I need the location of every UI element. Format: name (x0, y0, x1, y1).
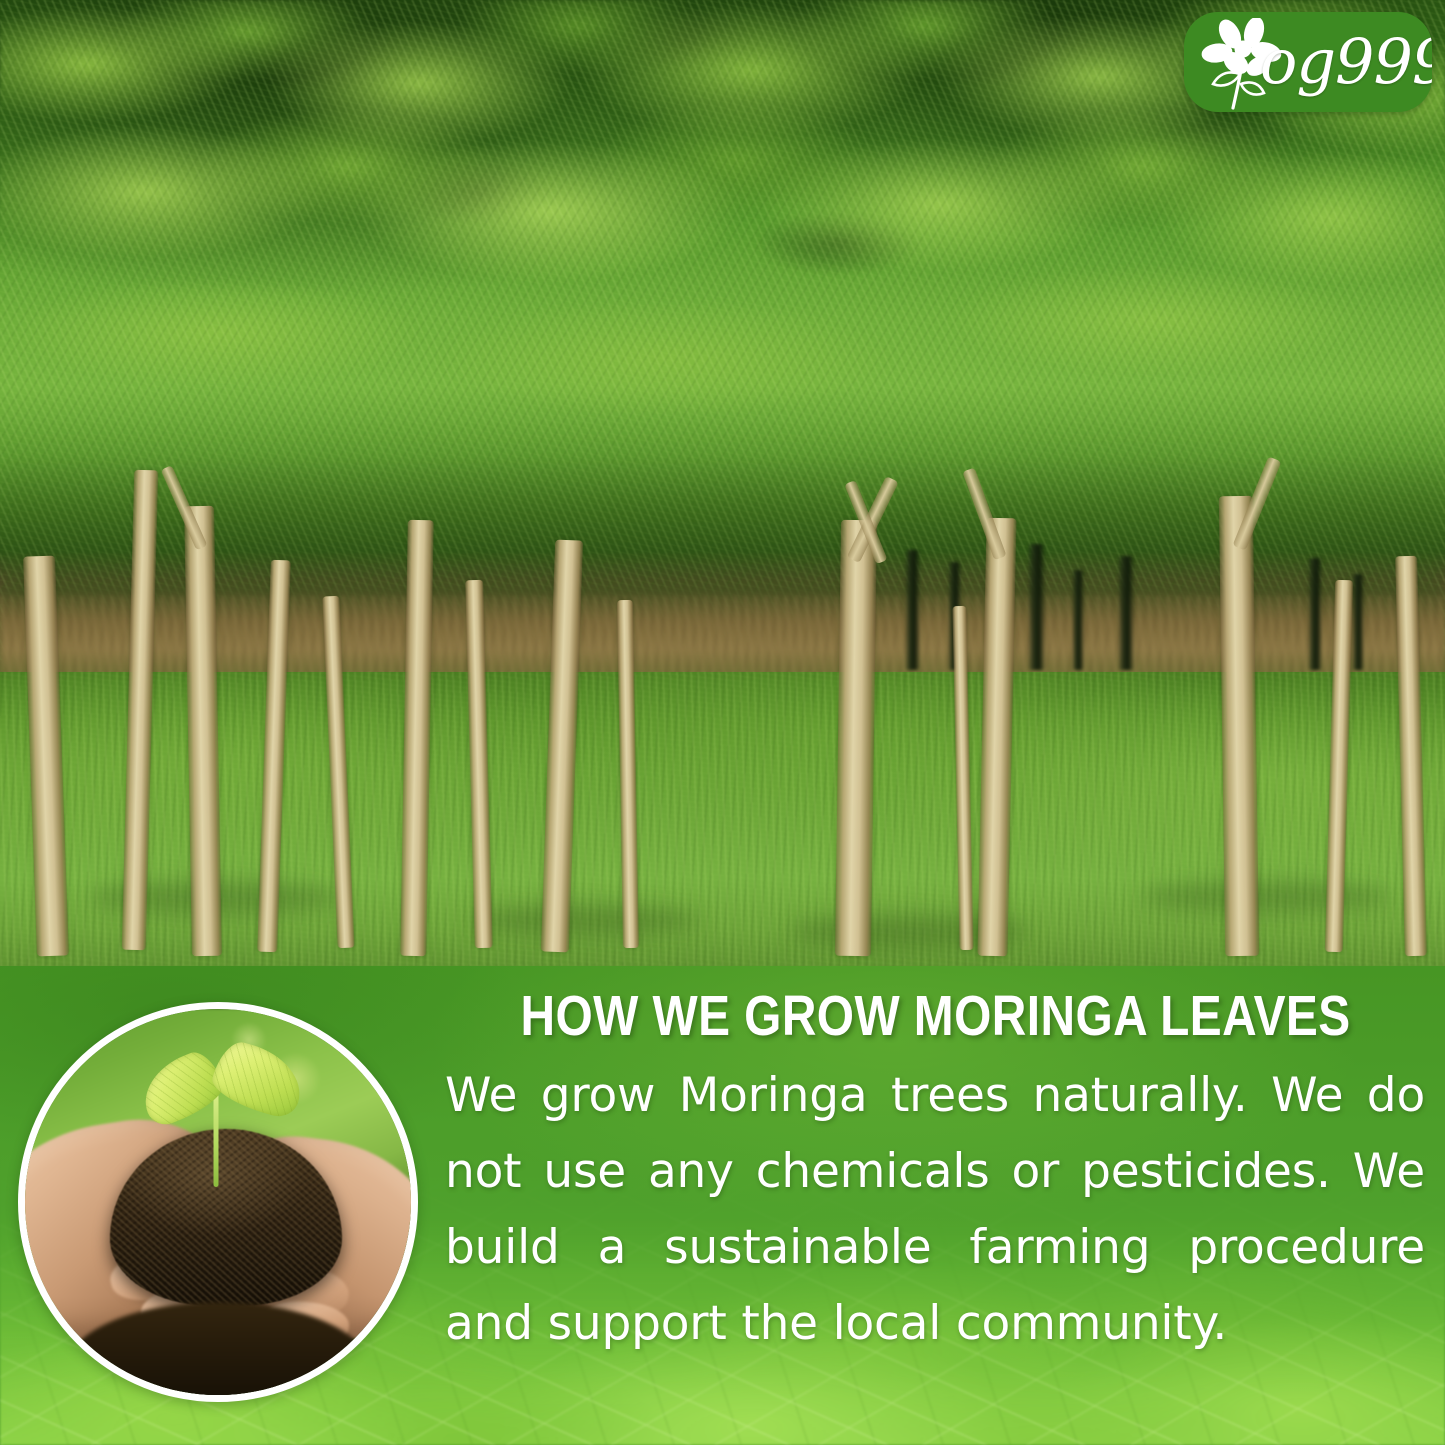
moringa-trunk (835, 520, 877, 956)
background-trunk (1118, 556, 1134, 670)
background-trunk (1072, 570, 1084, 670)
moringa-grove-photo (0, 0, 1445, 966)
banner-headline: HOW WE GROW MORINGA LEAVES (445, 986, 1426, 1046)
brand-logo-badge[interactable]: og999 (1184, 12, 1432, 112)
moringa-trunk (1219, 496, 1259, 956)
trunk-ground-shadow (470, 905, 700, 935)
poster-canvas: og999 HOW WE GROW MORINGA LEAVES We grow… (0, 0, 1445, 1445)
brand-logo-text: og999 (1260, 31, 1432, 93)
seedling-stem (213, 1094, 218, 1187)
trunk-ground-shadow (1140, 880, 1390, 912)
background-trunk (905, 550, 920, 670)
background-trunk (1028, 544, 1045, 670)
background-trunk (1352, 574, 1364, 670)
background-trunk (1308, 558, 1322, 670)
hands-seedling-photo (18, 1002, 418, 1402)
banner-body-text: We grow Moringa trees naturally. We do n… (445, 1058, 1425, 1362)
banner-text-block: HOW WE GROW MORINGA LEAVES We grow Morin… (445, 986, 1427, 1362)
